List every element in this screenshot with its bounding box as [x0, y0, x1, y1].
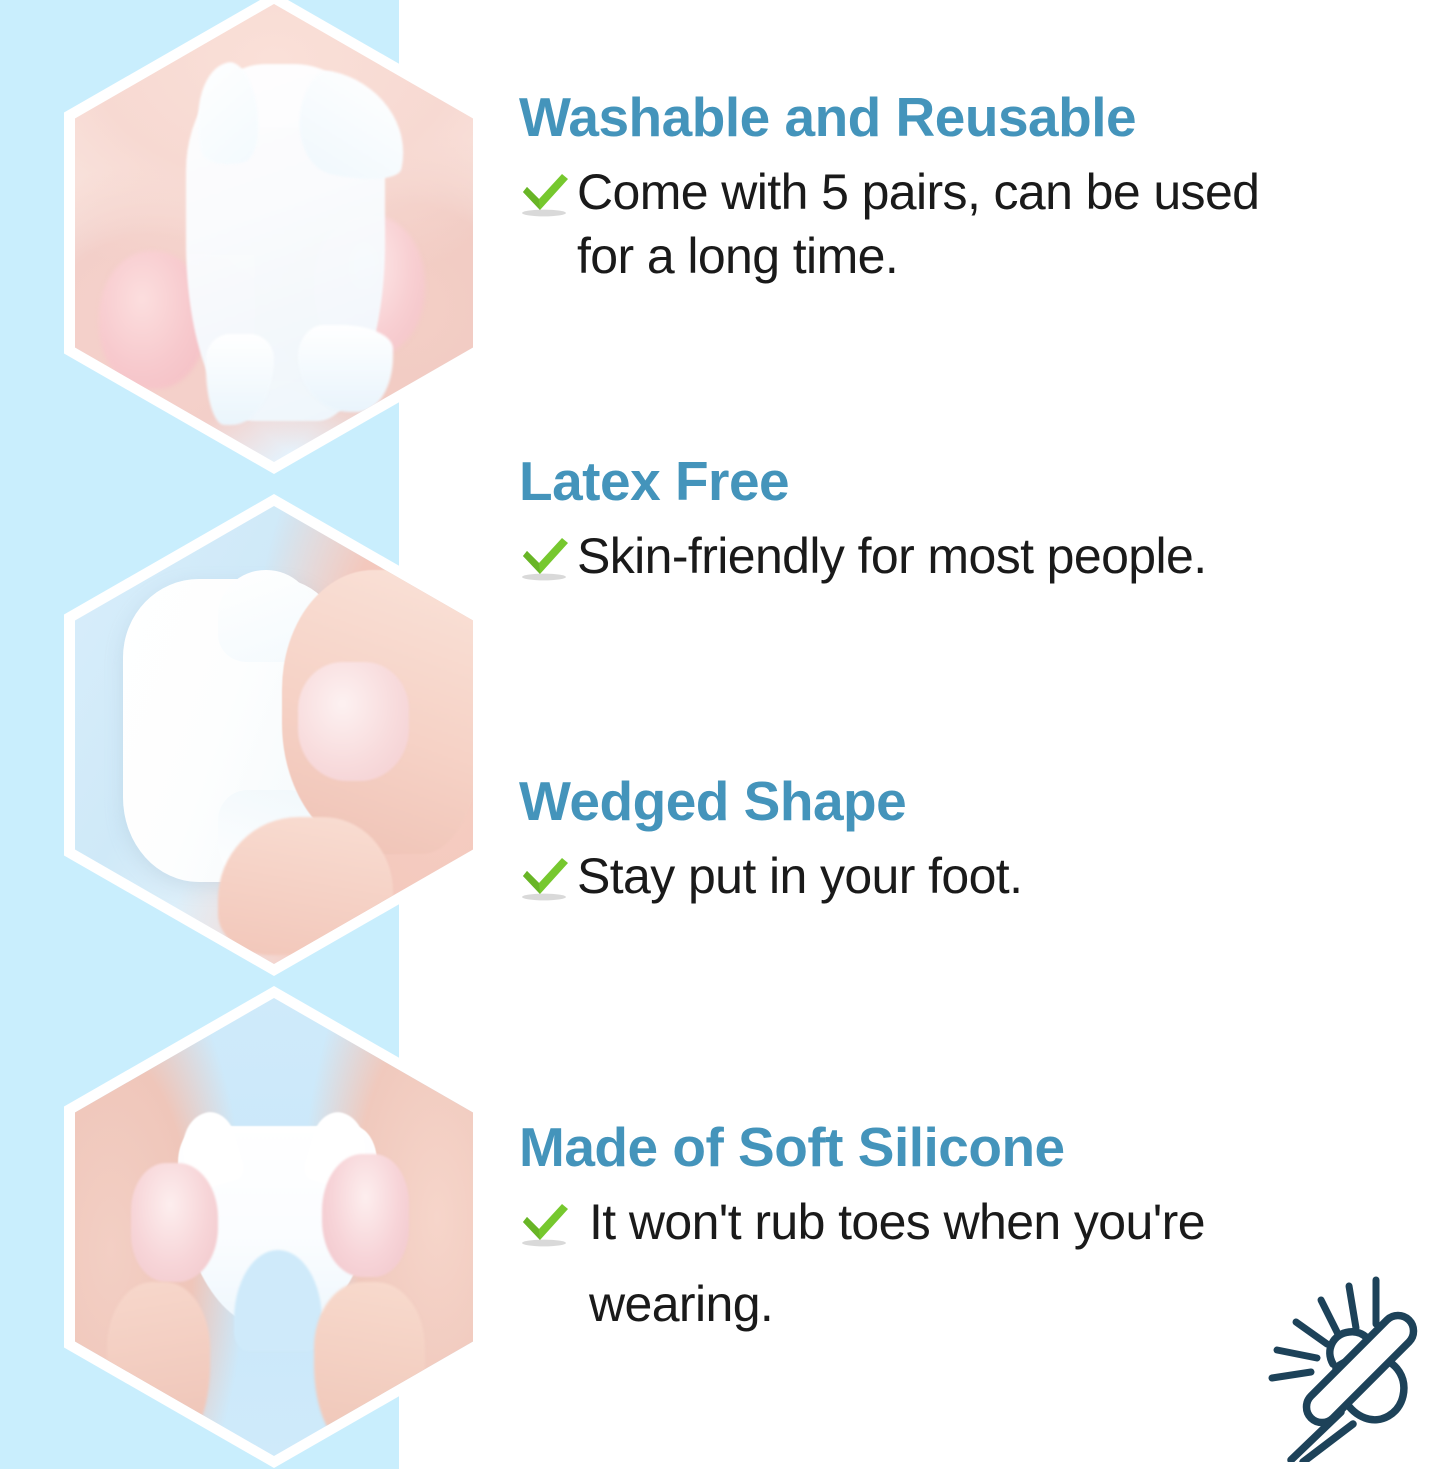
feature-block-washable-and-reusable: Washable and Reusable Come with 5 pairs,… — [519, 88, 1445, 288]
hexagon-photo-1 — [64, 0, 484, 474]
feature-block-wedged-shape: Wedged Shape Stay put in your foot. — [519, 772, 1445, 908]
green-check-icon — [519, 1200, 575, 1248]
pushpin-icon — [1263, 1272, 1445, 1462]
features-column: Washable and Reusable Come with 5 pairs,… — [519, 0, 1445, 1469]
feature-heading: Wedged Shape — [519, 772, 1445, 830]
hexagon-photo-3 — [64, 986, 484, 1468]
feature-heading: Made of Soft Silicone — [519, 1118, 1445, 1176]
feature-bullet: Skin-friendly for most people. — [519, 524, 1445, 588]
green-check-icon — [519, 170, 575, 218]
bullet-line: Come with 5 pairs, can be used — [577, 164, 1259, 220]
feature-bullet-text: It won't rub toes when you're wearing. — [575, 1190, 1205, 1336]
feature-bullet-text: Stay put in your foot. — [575, 844, 1022, 908]
feature-block-latex-free: Latex Free Skin-friendly for most people… — [519, 452, 1445, 588]
bullet-line: for a long time. — [577, 228, 898, 284]
feature-heading: Latex Free — [519, 452, 1445, 510]
hexagon-photo-2 — [64, 494, 484, 976]
green-check-icon — [519, 854, 575, 902]
bullet-line: wearing. — [589, 1272, 773, 1336]
feature-bullet: Come with 5 pairs, can be used for a lon… — [519, 160, 1445, 288]
feature-bullet-text: Come with 5 pairs, can be used for a lon… — [575, 160, 1259, 288]
feature-heading: Washable and Reusable — [519, 88, 1445, 146]
infographic-page: Washable and Reusable Come with 5 pairs,… — [0, 0, 1445, 1469]
green-check-icon — [519, 534, 575, 582]
feature-bullet: Stay put in your foot. — [519, 844, 1445, 908]
feature-bullet-text: Skin-friendly for most people. — [575, 524, 1207, 588]
bullet-line: Stay put in your foot. — [577, 848, 1022, 904]
bullet-line: It won't rub toes when you're — [589, 1194, 1205, 1250]
bullet-line: Skin-friendly for most people. — [577, 528, 1207, 584]
